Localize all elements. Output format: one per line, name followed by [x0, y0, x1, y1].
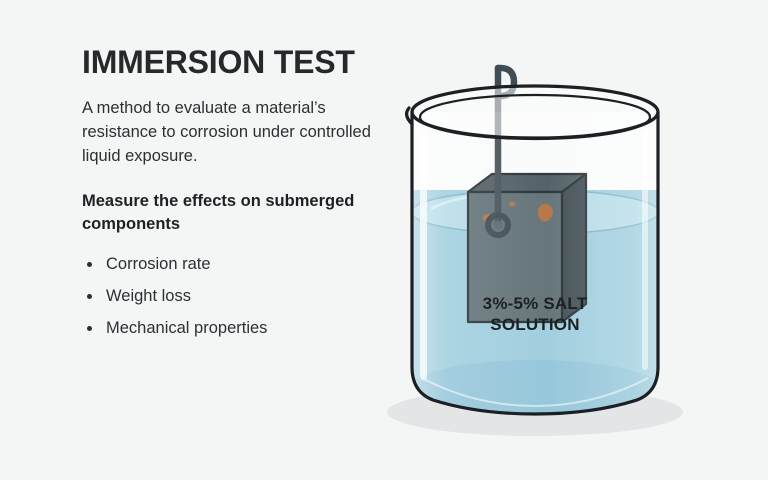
glass-beaker: [407, 86, 658, 414]
list-item: Mechanical properties: [82, 317, 382, 339]
measurement-list: Corrosion rate Weight loss Mechanical pr…: [82, 253, 382, 339]
description-paragraph: A method to evaluate a material’s resist…: [82, 96, 382, 168]
list-item: Corrosion rate: [82, 253, 382, 275]
list-item: Weight loss: [82, 285, 382, 307]
section-subheading: Measure the effects on submerged compone…: [82, 190, 382, 237]
text-column: IMMERSION TEST A method to evaluate a ma…: [82, 46, 382, 349]
beaker-rim-outer: [412, 86, 658, 138]
page-title: IMMERSION TEST: [82, 46, 382, 80]
beaker-illustration: 3%-5% SALT SOLUTION: [370, 40, 700, 450]
infographic-canvas: IMMERSION TEST A method to evaluate a ma…: [0, 0, 768, 480]
